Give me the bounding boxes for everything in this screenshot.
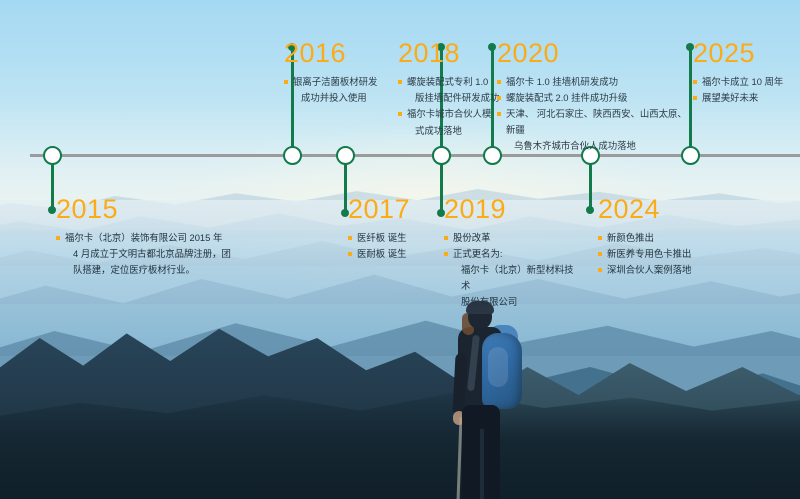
bullet-item: 福尔卡城市合伙人模	[398, 106, 506, 121]
bullet-item: 队搭建，定位医疗板材行业。	[56, 262, 241, 277]
milestone-year-2017: 2017	[348, 196, 458, 223]
milestone-bullets-2020: 福尔卡 1.0 挂墙机研发成功螺旋装配式 2.0 挂件成功升级天津、 河北石家庄…	[497, 74, 687, 153]
bullet-item: 正式更名为:	[444, 246, 574, 261]
bullet-item: 成功并投入使用	[284, 90, 388, 105]
timeline-node-2016[interactable]	[283, 146, 302, 165]
milestone-year-2020: 2020	[497, 40, 687, 67]
bullet-item: 式成功落地	[398, 123, 506, 138]
milestone-block-2020: 2020福尔卡 1.0 挂墙机研发成功螺旋装配式 2.0 挂件成功升级天津、 河…	[497, 40, 687, 154]
bullet-item: 福尔卡成立 10 周年	[693, 74, 797, 89]
bullet-item: 4 月成立于文明古都北京品牌注册，团	[56, 246, 241, 261]
bullet-item: 螺旋装配式 2.0 挂件成功升级	[497, 90, 687, 105]
bullet-item: 福尔卡（北京）新型材料技术	[444, 262, 574, 292]
timeline-node-2015[interactable]	[43, 146, 62, 165]
stem-end-dot	[48, 206, 56, 214]
bullet-item: 天津、 河北石家庄、陕西西安、山西太原、新疆	[497, 106, 687, 136]
milestone-bullets-2019: 股份改革正式更名为:福尔卡（北京）新型材料技术股份有限公司	[444, 230, 574, 309]
milestone-bullets-2025: 福尔卡成立 10 周年展望美好未来	[693, 74, 797, 105]
bullet-item: 展望美好未来	[693, 90, 797, 105]
milestone-block-2024: 2024新颜色推出新医养专用色卡推出深圳合伙人案例落地	[598, 196, 728, 279]
milestone-year-2019: 2019	[444, 196, 574, 223]
milestone-bullets-2016: 银离子洁菌板材研发成功并投入使用	[284, 74, 388, 105]
bullet-item: 福尔卡 1.0 挂墙机研发成功	[497, 74, 687, 89]
milestone-bullets-2018: 螺旋装配式专利 1.0版挂墙配件研发成功福尔卡城市合伙人模式成功落地	[398, 74, 506, 138]
bullet-item: 深圳合伙人案例落地	[598, 262, 728, 277]
milestone-block-2015: 2015福尔卡（北京）装饰有限公司 2015 年4 月成立于文明古都北京品牌注册…	[56, 196, 241, 279]
bullet-item: 股份改革	[444, 230, 574, 245]
milestone-bullets-2024: 新颜色推出新医养专用色卡推出深圳合伙人案例落地	[598, 230, 728, 278]
milestone-block-2018: 2018螺旋装配式专利 1.0版挂墙配件研发成功福尔卡城市合伙人模式成功落地	[398, 40, 506, 139]
bullet-item: 版挂墙配件研发成功	[398, 90, 506, 105]
milestone-block-2017: 2017医纤板 诞生医耐板 诞生	[348, 196, 458, 262]
milestone-year-2025: 2025	[693, 40, 797, 67]
timeline-stem-2025	[689, 47, 692, 155]
milestone-year-2015: 2015	[56, 196, 241, 223]
milestone-year-2016: 2016	[284, 40, 388, 67]
bullet-item: 福尔卡（北京）装饰有限公司 2015 年	[56, 230, 241, 245]
milestone-bullets-2015: 福尔卡（北京）装饰有限公司 2015 年4 月成立于文明古都北京品牌注册，团队搭…	[56, 230, 241, 278]
bullet-item: 新颜色推出	[598, 230, 728, 245]
blue-backpack	[482, 333, 522, 409]
milestone-bullets-2017: 医纤板 诞生医耐板 诞生	[348, 230, 458, 261]
bullet-item: 螺旋装配式专利 1.0	[398, 74, 506, 89]
bullet-item: 医纤板 诞生	[348, 230, 458, 245]
bullet-item: 医耐板 诞生	[348, 246, 458, 261]
timeline-node-2017[interactable]	[336, 146, 355, 165]
milestone-year-2018: 2018	[398, 40, 506, 67]
stem-end-dot	[586, 206, 594, 214]
milestone-block-2016: 2016银离子洁菌板材研发成功并投入使用	[284, 40, 388, 106]
milestone-year-2024: 2024	[598, 196, 728, 223]
milestone-block-2019: 2019股份改革正式更名为:福尔卡（北京）新型材料技术股份有限公司	[444, 196, 574, 310]
milestone-block-2025: 2025福尔卡成立 10 周年展望美好未来	[693, 40, 797, 106]
hiker-leg-split	[480, 429, 484, 499]
bullet-item: 乌鲁木齐城市合伙人成功落地	[497, 138, 687, 153]
bullet-item: 新医养专用色卡推出	[598, 246, 728, 261]
bullet-item: 股份有限公司	[444, 294, 574, 309]
timeline-infographic: 2015福尔卡（北京）装饰有限公司 2015 年4 月成立于文明古都北京品牌注册…	[0, 0, 800, 499]
hiker-figure	[438, 299, 530, 499]
bullet-item: 银离子洁菌板材研发	[284, 74, 388, 89]
timeline-node-2019[interactable]	[432, 146, 451, 165]
